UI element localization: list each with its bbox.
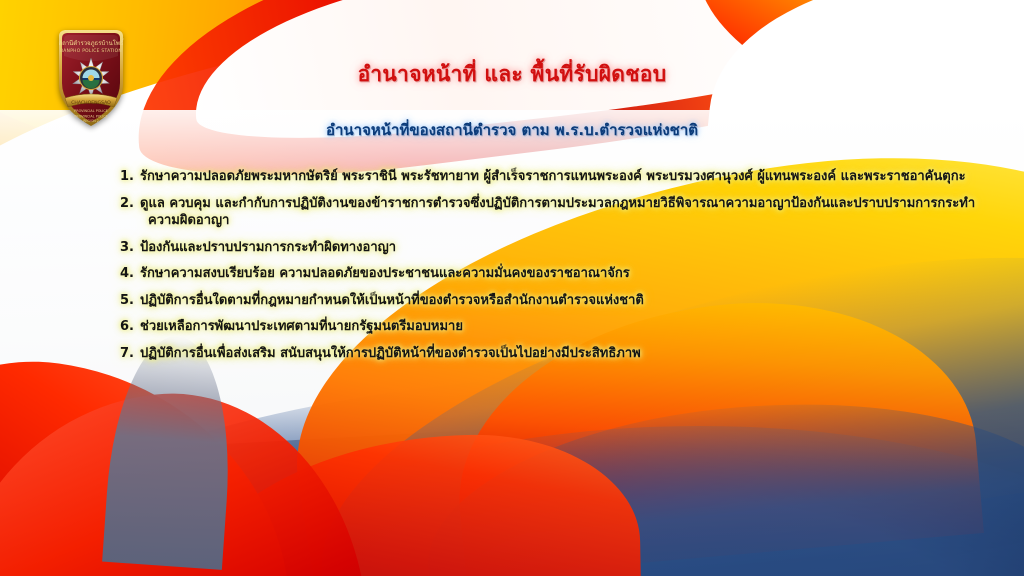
svg-text:CHACHOENGSAO: CHACHOENGSAO (71, 100, 111, 106)
bottom-red-tail (178, 432, 641, 576)
list-item-text: ปฏิบัติการอื่นใดตามที่กฎหมายกำหนดให้เป็น… (140, 292, 998, 310)
list-item-number: 2. (118, 195, 140, 213)
svg-text:PROVINCIAL POLICE: PROVINCIAL POLICE (74, 109, 108, 113)
list-item: 4. รักษาความสงบเรียบร้อย ความปลอดภัยของป… (118, 265, 998, 283)
list-item-number: 3. (118, 239, 140, 257)
slide-subtitle: อำนาจหน้าที่ของสถานีตำรวจ ตาม พ.ร.บ.ตำรว… (0, 118, 1024, 142)
svg-text:PROVINCIAL POLICE: PROVINCIAL POLICE (74, 115, 108, 119)
svg-text:REGION 2: REGION 2 (83, 119, 99, 123)
list-item: 7. ปฏิบัติการอื่นเพื่อส่งเสริม สนับสนุนใ… (118, 345, 998, 363)
svg-text:สถานีตำรวจภูธรบ้านโพธิ์: สถานีตำรวจภูธรบ้านโพธิ์ (58, 38, 124, 47)
list-item-number: 7. (118, 345, 140, 363)
svg-text:BANPHO POLICE STATION: BANPHO POLICE STATION (60, 48, 122, 54)
list-item-text: รักษาความปลอดภัยพระมหากษัตริย์ พระราชินี… (140, 168, 998, 186)
list-item-text: ดูแล ควบคุม และกำกับการปฏิบัติงานของข้าร… (140, 195, 998, 230)
list-item-number: 4. (118, 265, 140, 283)
police-badge-icon: สถานีตำรวจภูธรบ้านโพธิ์ BANPHO POLICE ST… (52, 26, 130, 130)
slide-title: อำนาจหน้าที่ และ พื้นที่รับผิดชอบ (0, 58, 1024, 91)
list-item-text: ปฏิบัติการอื่นเพื่อส่งเสริม สนับสนุนให้ก… (140, 345, 998, 363)
list-item-text: รักษาความสงบเรียบร้อย ความปลอดภัยของประช… (140, 265, 998, 283)
bottom-red-wave-left-2 (0, 375, 376, 576)
list-item-text: ป้องกันและปราบปรามการกระทำผิดทางอาญา (140, 239, 998, 257)
bottom-blue-glow (250, 426, 1024, 576)
list-item: 3. ป้องกันและปราบปรามการกระทำผิดทางอาญา (118, 239, 998, 257)
list-item-text: ช่วยเหลือการพัฒนาประเทศตามที่นายกรัฐมนตร… (140, 318, 998, 336)
duties-list: 1. รักษาความปลอดภัยพระมหากษัตริย์ พระราช… (118, 168, 998, 371)
list-item: 5. ปฏิบัติการอื่นใดตามที่กฎหมายกำหนดให้เ… (118, 292, 998, 310)
list-item-number: 6. (118, 318, 140, 336)
list-item-number: 1. (118, 168, 140, 186)
list-item: 2. ดูแล ควบคุม และกำกับการปฏิบัติงานของข… (118, 195, 998, 230)
presentation-slide: สถานีตำรวจภูธรบ้านโพธิ์ BANPHO POLICE ST… (0, 0, 1024, 576)
list-item-number: 5. (118, 292, 140, 310)
list-item: 6. ช่วยเหลือการพัฒนาประเทศตามที่นายกรัฐม… (118, 318, 998, 336)
list-item-line-1: ดูแล ควบคุม และกำกับการปฏิบัติงานของข้าร… (140, 196, 975, 211)
list-item: 1. รักษาความปลอดภัยพระมหากษัตริย์ พระราช… (118, 168, 998, 186)
bottom-orange-peak-mask (415, 372, 1024, 576)
bottom-blue-wave (0, 356, 1024, 576)
list-item-line-2: ความผิดอาญา (140, 212, 998, 230)
